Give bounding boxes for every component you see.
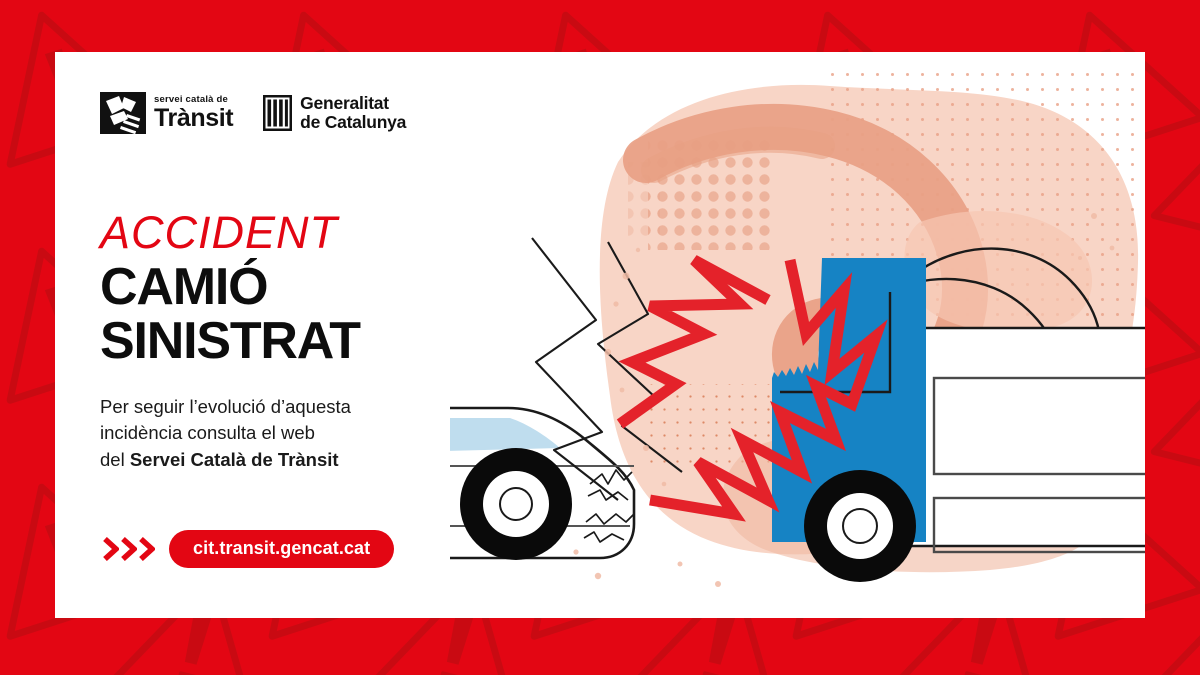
sct-logo: servei català de Trànsit [100, 92, 233, 134]
headline-line-2: SINISTRAT [100, 315, 500, 369]
generalitat-logo: Generalitat de Catalunya [263, 94, 406, 131]
chevron-right-icon [139, 537, 155, 561]
generalitat-four-bars-mark [263, 95, 292, 131]
generalitat-line1: Generalitat [300, 94, 406, 113]
copy-block: ACCIDENT CAMIÓ SINISTRAT Per seguir l’ev… [100, 210, 500, 473]
subcopy-line-3-prefix: del [100, 449, 130, 470]
cta-row[interactable]: cit.transit.gencat.cat [103, 530, 394, 568]
truck-wheel [804, 470, 916, 582]
car-wheel [460, 448, 572, 560]
generalitat-line2: de Catalunya [300, 113, 406, 132]
white-car [450, 408, 634, 560]
headline-line-1: CAMIÓ [100, 261, 500, 315]
subcopy-line-2: incidència consulta el web [100, 420, 500, 446]
logo-row: servei català de Trànsit Generalitat de … [100, 92, 406, 134]
subcopy-line-3-bold: Servei Català de Trànsit [130, 449, 339, 470]
chevrons-group [103, 537, 155, 561]
crash-illustration [450, 52, 1145, 618]
subcopy: Per seguir l’evolució d’aquesta incidènc… [100, 394, 500, 473]
poster-card: servei català de Trànsit Generalitat de … [55, 52, 1145, 618]
subcopy-line-3: del Servei Català de Trànsit [100, 447, 500, 473]
chevron-right-icon [103, 537, 119, 561]
servei-catala-transit-mark [100, 92, 146, 134]
sct-title: Trànsit [154, 106, 233, 131]
chevron-right-icon [121, 537, 137, 561]
subcopy-line-1: Per seguir l’evolució d’aquesta [100, 394, 500, 420]
website-url-pill[interactable]: cit.transit.gencat.cat [169, 530, 394, 568]
headline-kicker: ACCIDENT [100, 210, 500, 255]
